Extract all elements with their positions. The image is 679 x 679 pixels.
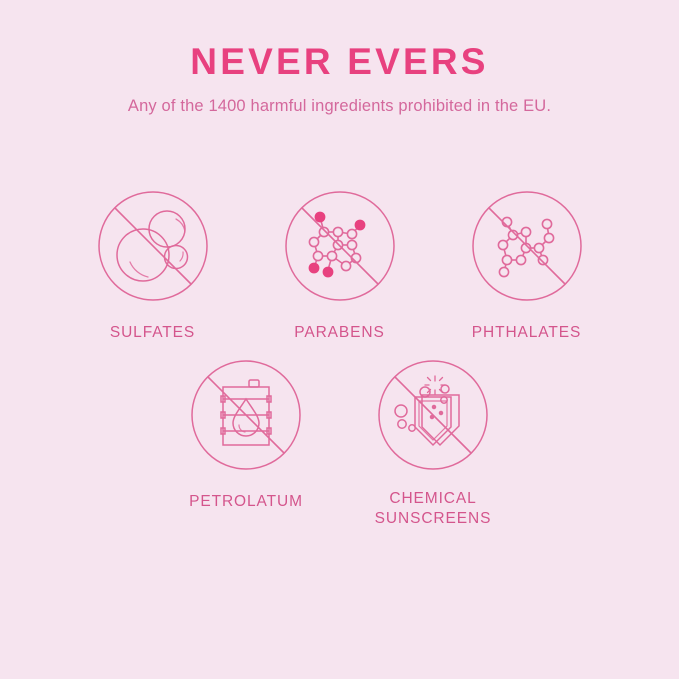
grid-item-label: CHEMICAL SUNSCREENS bbox=[375, 489, 492, 529]
grid-item-sulfates: SULFATES bbox=[97, 190, 209, 343]
no-petrolatum-barrel-icon bbox=[190, 359, 302, 471]
grid-item-label: PETROLATUM bbox=[189, 492, 303, 512]
no-parabens-molecule-icon bbox=[284, 190, 396, 302]
page-title: NEVER EVERS bbox=[0, 42, 679, 83]
grid-item-label: SULFATES bbox=[110, 323, 195, 343]
no-chemical-sunscreens-shield-icon bbox=[377, 359, 489, 471]
grid-item-parabens: PARABENS bbox=[284, 190, 396, 343]
page-subtitle: Any of the 1400 harmful ingredients proh… bbox=[0, 97, 679, 117]
grid-item-label: PARABENS bbox=[294, 323, 384, 343]
grid-row-2: PETROLATUM bbox=[0, 359, 679, 529]
grid-item-petrolatum: PETROLATUM bbox=[190, 359, 302, 529]
grid-item-phthalates: PHTHALATES bbox=[471, 190, 583, 343]
grid-row-1: SULFATES bbox=[0, 190, 679, 343]
no-phthalates-molecule-icon bbox=[471, 190, 583, 302]
header: NEVER EVERS Any of the 1400 harmful ingr… bbox=[0, 42, 679, 116]
no-sulfates-bubbles-icon bbox=[97, 190, 209, 302]
never-evers-grid: SULFATES bbox=[0, 190, 679, 528]
grid-item-chemical-sunscreens: CHEMICAL SUNSCREENS bbox=[377, 359, 489, 529]
grid-item-label: PHTHALATES bbox=[472, 323, 582, 343]
never-evers-infographic: NEVER EVERS Any of the 1400 harmful ingr… bbox=[0, 0, 679, 679]
